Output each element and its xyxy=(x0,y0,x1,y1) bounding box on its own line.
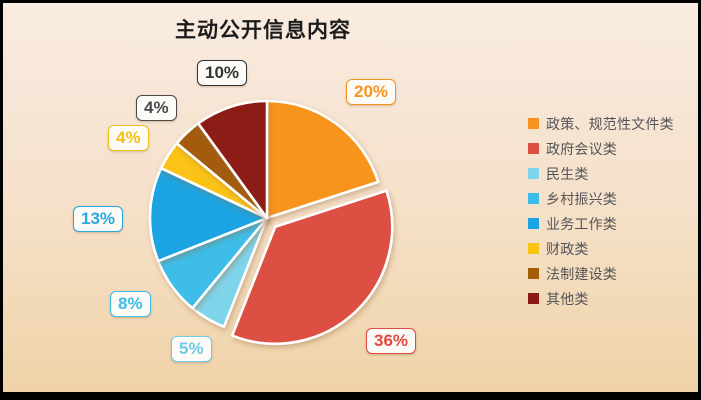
legend-item-4[interactable]: 乡村振兴类 xyxy=(528,186,698,211)
data-label-6: 4% xyxy=(108,125,149,151)
data-label-5: 13% xyxy=(73,206,123,232)
pie-slice-group xyxy=(150,101,392,344)
data-label-8: 10% xyxy=(197,60,247,86)
legend-item-label: 乡村振兴类 xyxy=(546,189,617,209)
legend-item-label: 政策、规范性文件类 xyxy=(546,114,674,134)
legend-item-label: 民生类 xyxy=(546,164,589,184)
legend-swatch-icon xyxy=(528,293,539,304)
legend-item-7[interactable]: 法制建设类 xyxy=(528,261,698,286)
legend-item-6[interactable]: 财政类 xyxy=(528,236,698,261)
legend-item-3[interactable]: 民生类 xyxy=(528,161,698,186)
data-label-3: 5% xyxy=(171,336,212,362)
data-label-2: 36% xyxy=(366,328,416,354)
chart-screenshot: 主动公开信息内容 20%36%5%8%13%4%4%10% 政策、规范性文件类政… xyxy=(0,0,701,400)
legend-swatch-icon xyxy=(528,243,539,254)
legend-swatch-icon xyxy=(528,118,539,129)
legend-swatch-icon xyxy=(528,143,539,154)
legend-item-2[interactable]: 政府会议类 xyxy=(528,136,698,161)
legend-swatch-icon xyxy=(528,268,539,279)
chart-legend: 政策、规范性文件类政府会议类民生类乡村振兴类业务工作类财政类法制建设类其他类 xyxy=(528,111,698,311)
data-label-1: 20% xyxy=(346,79,396,105)
legend-swatch-icon xyxy=(528,193,539,204)
legend-swatch-icon xyxy=(528,168,539,179)
legend-item-label: 政府会议类 xyxy=(546,139,617,159)
data-label-4: 8% xyxy=(110,291,151,317)
legend-swatch-icon xyxy=(528,218,539,229)
chart-canvas: 主动公开信息内容 20%36%5%8%13%4%4%10% 政策、规范性文件类政… xyxy=(3,3,698,392)
legend-item-1[interactable]: 政策、规范性文件类 xyxy=(528,111,698,136)
legend-item-label: 财政类 xyxy=(546,239,589,259)
legend-item-label: 业务工作类 xyxy=(546,214,617,234)
legend-item-label: 其他类 xyxy=(546,289,589,309)
legend-item-5[interactable]: 业务工作类 xyxy=(528,211,698,236)
legend-item-8[interactable]: 其他类 xyxy=(528,286,698,311)
legend-item-label: 法制建设类 xyxy=(546,264,617,284)
data-label-7: 4% xyxy=(136,95,177,121)
